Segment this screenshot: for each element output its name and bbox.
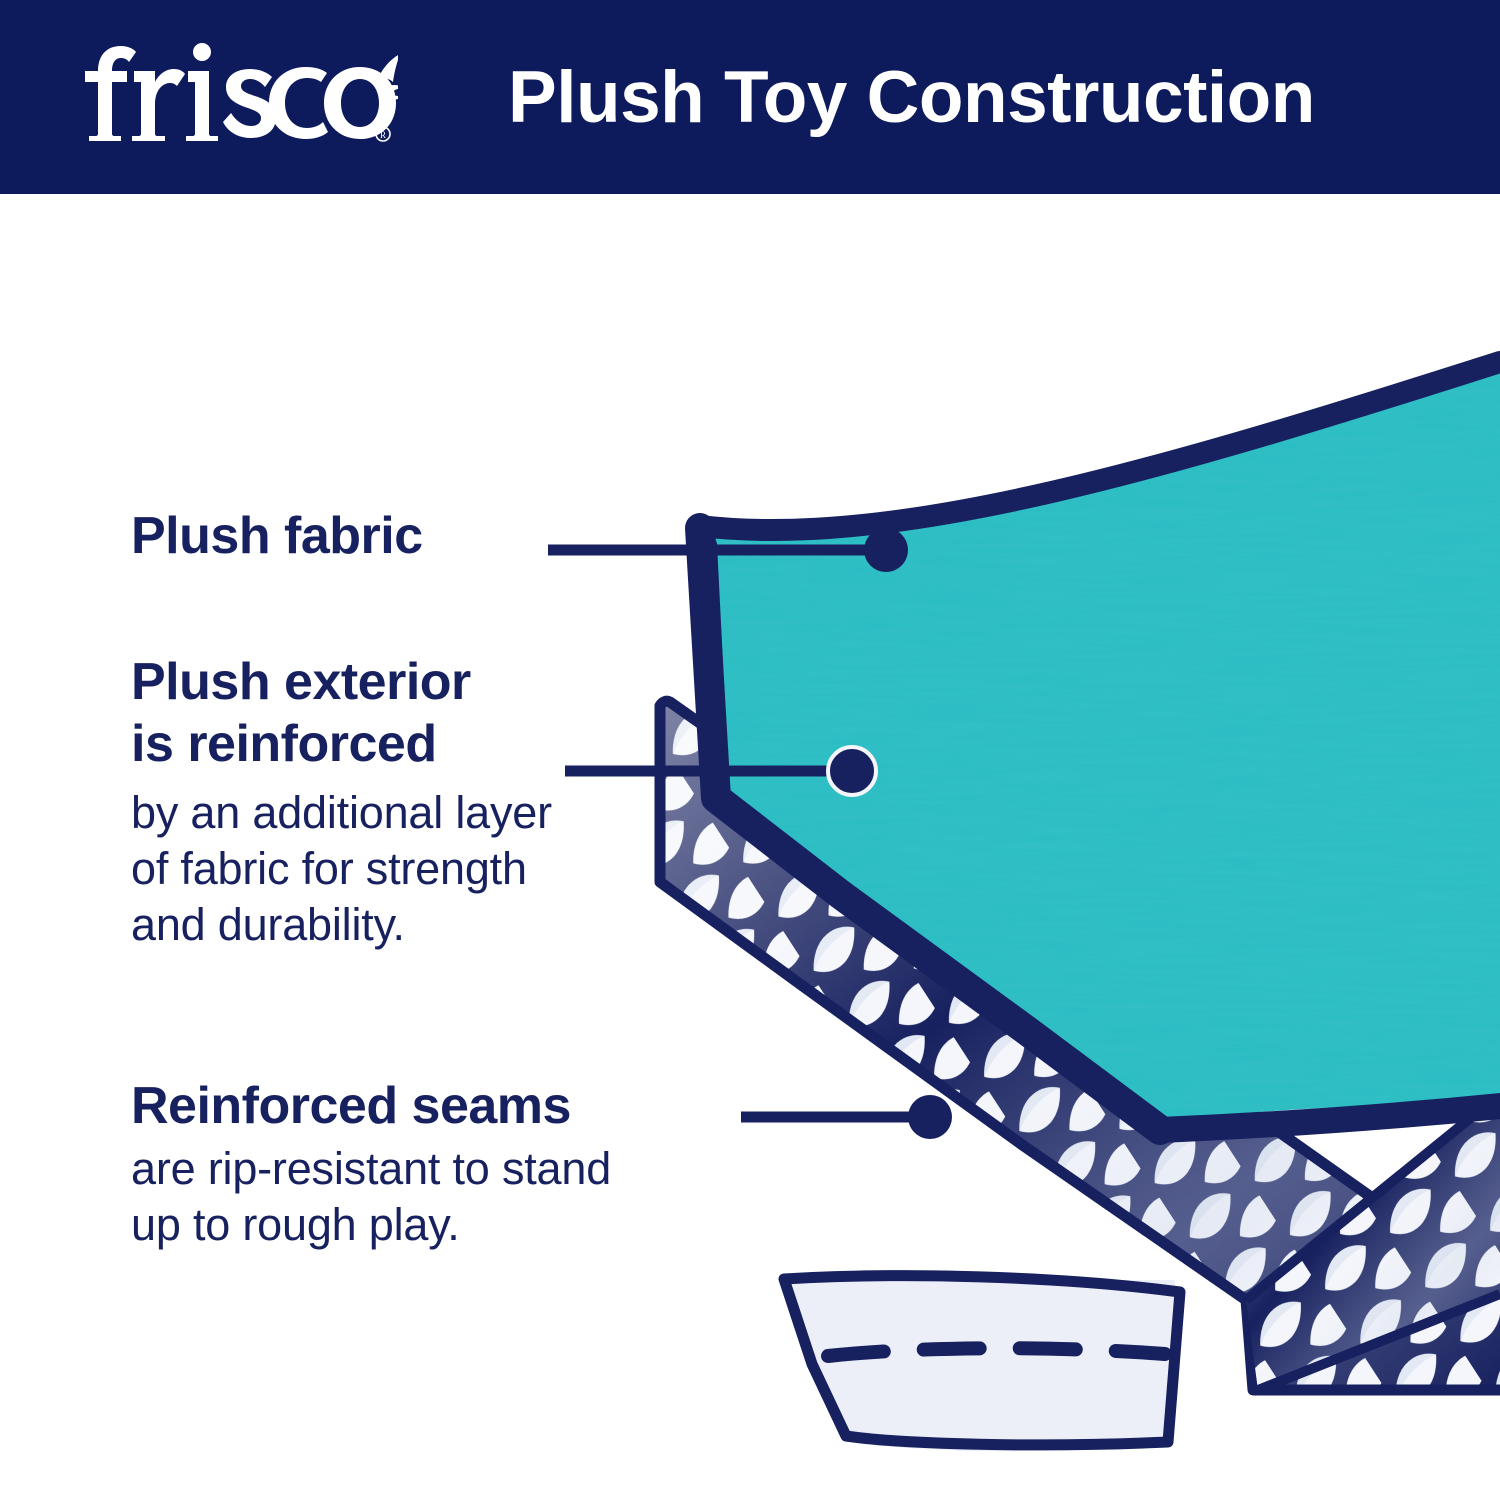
leader-line-reinforced-seams: [741, 1095, 952, 1139]
callout-reinforced-seams: Reinforced seams are rip-resistant to st…: [131, 1075, 611, 1253]
frisco-logo: R: [78, 38, 398, 150]
callout-plush-fabric: Plush fabric: [131, 505, 423, 567]
plush-fabric-layer: [650, 344, 1500, 1144]
callout-plush-exterior: Plush exterior is reinforced by an addit…: [131, 651, 552, 953]
page-title: Plush Toy Construction: [508, 48, 1408, 148]
frisco-logo-wordmark: R: [78, 38, 398, 150]
callout-body-line-2: of fabric for strength: [131, 841, 552, 897]
callout-heading-line-1: Plush exterior: [131, 651, 552, 713]
callout-body-line-3: and durability.: [131, 897, 552, 953]
callout-heading: Reinforced seams: [131, 1075, 611, 1137]
callout-body-line-1: by an additional layer: [131, 785, 552, 841]
callout-heading: Plush fabric: [131, 505, 423, 567]
callout-body-line-1: are rip-resistant to stand: [131, 1141, 611, 1197]
callout-heading-line-2: is reinforced: [131, 713, 552, 775]
callout-body-line-2: up to rough play.: [131, 1197, 611, 1253]
seam-flap: [783, 1276, 1180, 1452]
header-bar: R Plush Toy Construction: [0, 0, 1500, 194]
svg-text:R: R: [380, 130, 386, 140]
infographic-page: R Plush Toy Construction: [0, 0, 1500, 1500]
